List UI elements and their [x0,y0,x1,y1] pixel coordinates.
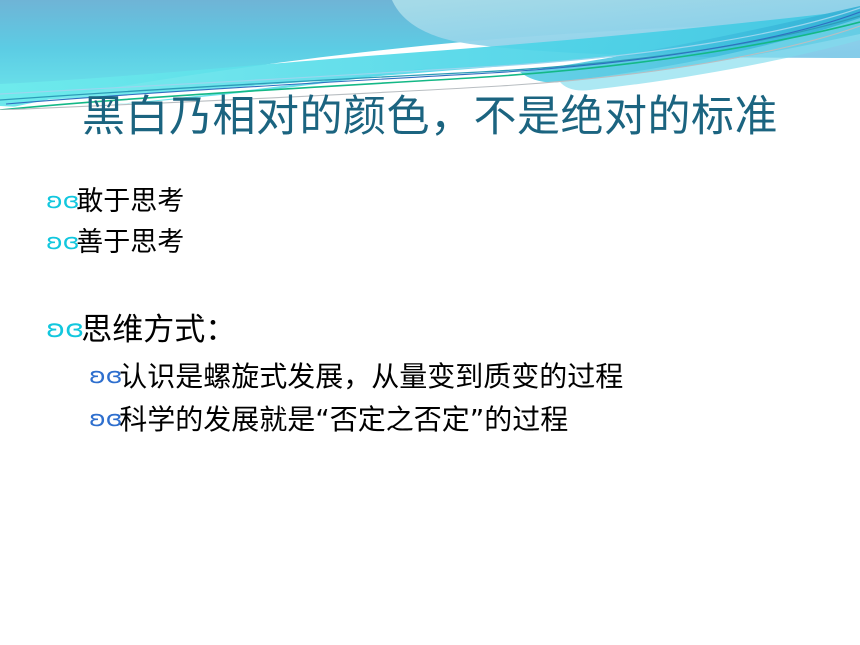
bullet-marker-icon: ʚɞ [46,230,80,255]
bullet-marker-icon: ʚɞ [89,407,123,432]
list-item: ʚɞ 思维方式： [46,308,836,353]
list-item-label: 思维方式： [81,308,236,353]
list-item-label: 敢于思考 [76,182,184,221]
wave-shape-right-hook-light [560,18,860,91]
bullet-marker-icon: ʚɞ [46,189,80,214]
list-item: ʚɞ 认识是螺旋式发展，从量变到质变的过程 [89,355,836,398]
wave-shape-cyan-band [0,10,860,102]
wave-shape-right-hook [520,6,860,83]
list-item: ʚɞ 善于思考 [46,223,836,262]
list-item: ʚɞ 科学的发展就是“否定之否定”的过程 [89,398,836,441]
wave-line-teal [0,16,860,100]
wave-line-blue [6,12,860,104]
bullet-marker-icon: ʚɞ [46,314,84,343]
title-container: 黑白乃相对的颜色，不是绝对的标准 [0,92,860,143]
bullet-marker-icon: ʚɞ [89,364,123,389]
content-placeholder: ʚɞ 敢于思考 ʚɞ 善于思考 ʚɞ 思维方式： ʚɞ 认识是螺旋式发展，从量变… [46,182,836,441]
list-item-label: 科学的发展就是“否定之否定”的过程 [119,398,568,441]
page-title: 黑白乃相对的颜色，不是绝对的标准 [82,92,778,143]
slide-canvas: 黑白乃相对的颜色，不是绝对的标准 ʚɞ 敢于思考 ʚɞ 善于思考 ʚɞ 思维方式… [0,0,860,645]
list-item-label: 认识是螺旋式发展，从量变到质变的过程 [119,355,623,398]
list-item-label: 善于思考 [76,223,184,262]
wave-shape-pale-lens [392,0,860,58]
wave-line-pale-blue [0,8,860,94]
blank-line-spacer [46,264,836,308]
list-item: ʚɞ 敢于思考 [46,182,836,221]
